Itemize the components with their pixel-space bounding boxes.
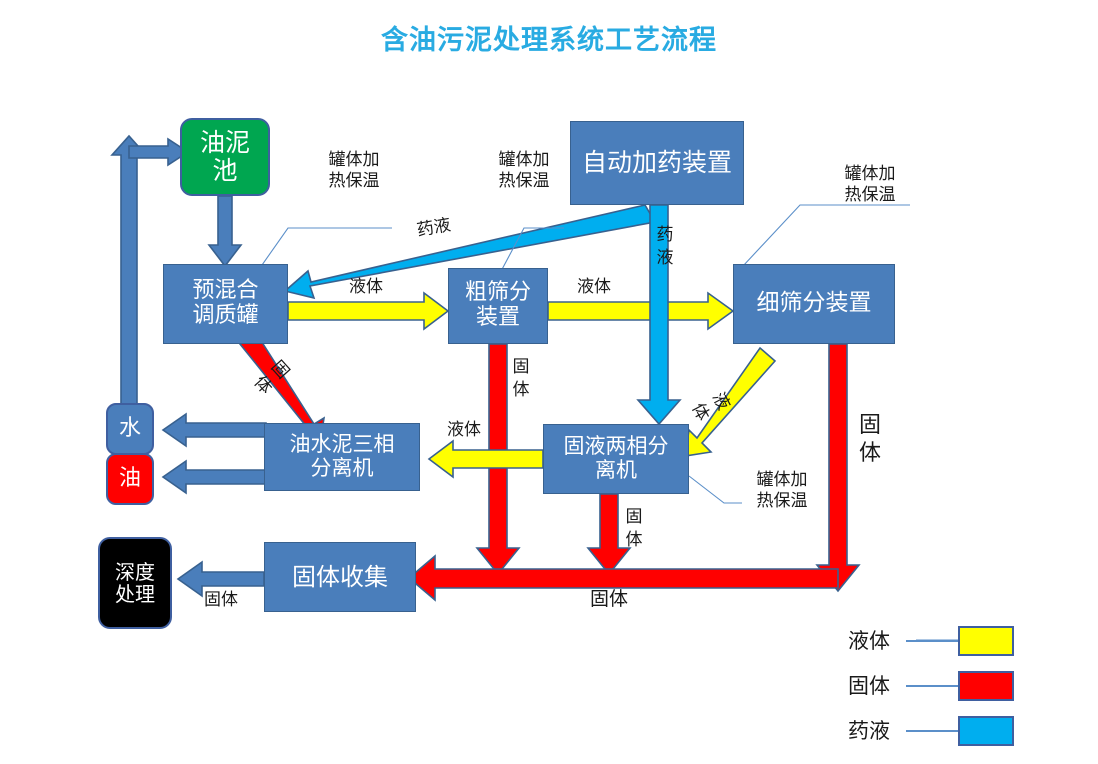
legend-swatch-liquid	[958, 626, 1014, 656]
node-deep-treatment[interactable]: 深度 处理	[98, 537, 172, 629]
callout-coarse-heat: 罐体加 热保温	[480, 150, 568, 192]
node-label-water: 水	[119, 417, 141, 442]
node-label-solid-collect: 固体收集	[292, 564, 388, 591]
node-label-oil-sludge-pool: 油泥 池	[200, 129, 250, 185]
node-water[interactable]: 水	[106, 403, 154, 455]
node-label-fine-screen: 细筛分装置	[757, 291, 872, 317]
node-fine-screen[interactable]: 细筛分装置	[733, 264, 895, 344]
node-label-auto-dosing: 自动加药装置	[582, 149, 732, 177]
legend-label-liquid: 液体	[848, 629, 906, 653]
node-label-coarse-screen: 粗筛分 装置	[465, 281, 531, 330]
node-oil-sludge-pool[interactable]: 油泥 池	[180, 118, 270, 196]
node-label-premix-tank: 预混合 调质罐	[192, 279, 258, 328]
node-label-oil: 油	[119, 467, 141, 492]
callout-line-twophase-heat	[689, 476, 742, 503]
legend-leader-solid	[906, 685, 958, 687]
node-label-three-phase-separator: 油水泥三相 分离机	[290, 433, 395, 480]
node-label-two-phase-separator: 固液两相分 离机	[564, 435, 669, 482]
legend-item-chem: 药液	[848, 716, 1014, 746]
legend-leader-liquid	[906, 640, 958, 642]
arrow-premix-to-coarse-liquid	[288, 293, 448, 329]
flow-label-solid-twophase-down: 固 体	[622, 506, 646, 552]
flow-label-liquid-coarse-fine: 液体	[567, 277, 621, 298]
node-premix-tank[interactable]: 预混合 调质罐	[163, 264, 288, 344]
node-coarse-screen[interactable]: 粗筛分 装置	[448, 268, 548, 344]
callout-premix-heat: 罐体加 热保温	[310, 150, 398, 192]
legend: 液体 固体 药液	[848, 620, 1028, 760]
flow-label-liquid-twophase-threephase: 液体	[437, 420, 491, 441]
flow-label-chem-vertical: 药 液	[653, 224, 677, 270]
legend-item-liquid: 液体	[848, 626, 1014, 656]
node-auto-dosing[interactable]: 自动加药装置	[570, 121, 744, 205]
node-three-phase-separator[interactable]: 油水泥三相 分离机	[264, 423, 420, 491]
callout-fine-heat: 罐体加 热保温	[826, 164, 914, 206]
legend-swatch-solid	[958, 671, 1014, 701]
callout-twophase-heat: 罐体加 热保温	[738, 470, 826, 512]
flow-label-solid-fine-down: 固 体	[856, 412, 884, 468]
node-two-phase-separator[interactable]: 固液两相分 离机	[543, 424, 689, 494]
node-solid-collect[interactable]: 固体收集	[264, 542, 416, 612]
arrow-pool-to-premix	[209, 196, 241, 266]
callout-line-fine-heat	[743, 205, 910, 266]
flow-label-solid-bottom-bus: 固体	[578, 589, 640, 610]
legend-leader-chem	[906, 730, 958, 732]
legend-label-chem: 药液	[848, 719, 906, 743]
legend-swatch-chem	[958, 716, 1014, 746]
arrow-twophase-to-threephase-liquid	[429, 441, 543, 477]
flow-label-solid-coarse-down: 固 体	[509, 356, 533, 402]
node-oil[interactable]: 油	[106, 453, 154, 505]
arrow-threephase-to-oil	[163, 461, 266, 493]
legend-label-solid: 固体	[848, 674, 906, 698]
flowchart-canvas: 含油污泥处理系统工艺流程 .ab{fill:#4A7EBB;stroke:#38…	[0, 0, 1098, 764]
arrow-threephase-to-water	[163, 414, 266, 446]
arrow-coarse-to-fine-liquid	[548, 293, 733, 329]
node-label-deep-treatment: 深度 处理	[115, 561, 155, 606]
legend-item-solid: 固体	[848, 671, 1014, 701]
flow-label-liquid-premix-coarse: 液体	[339, 277, 393, 298]
flow-label-solid-to-deep: 固体	[194, 590, 248, 611]
